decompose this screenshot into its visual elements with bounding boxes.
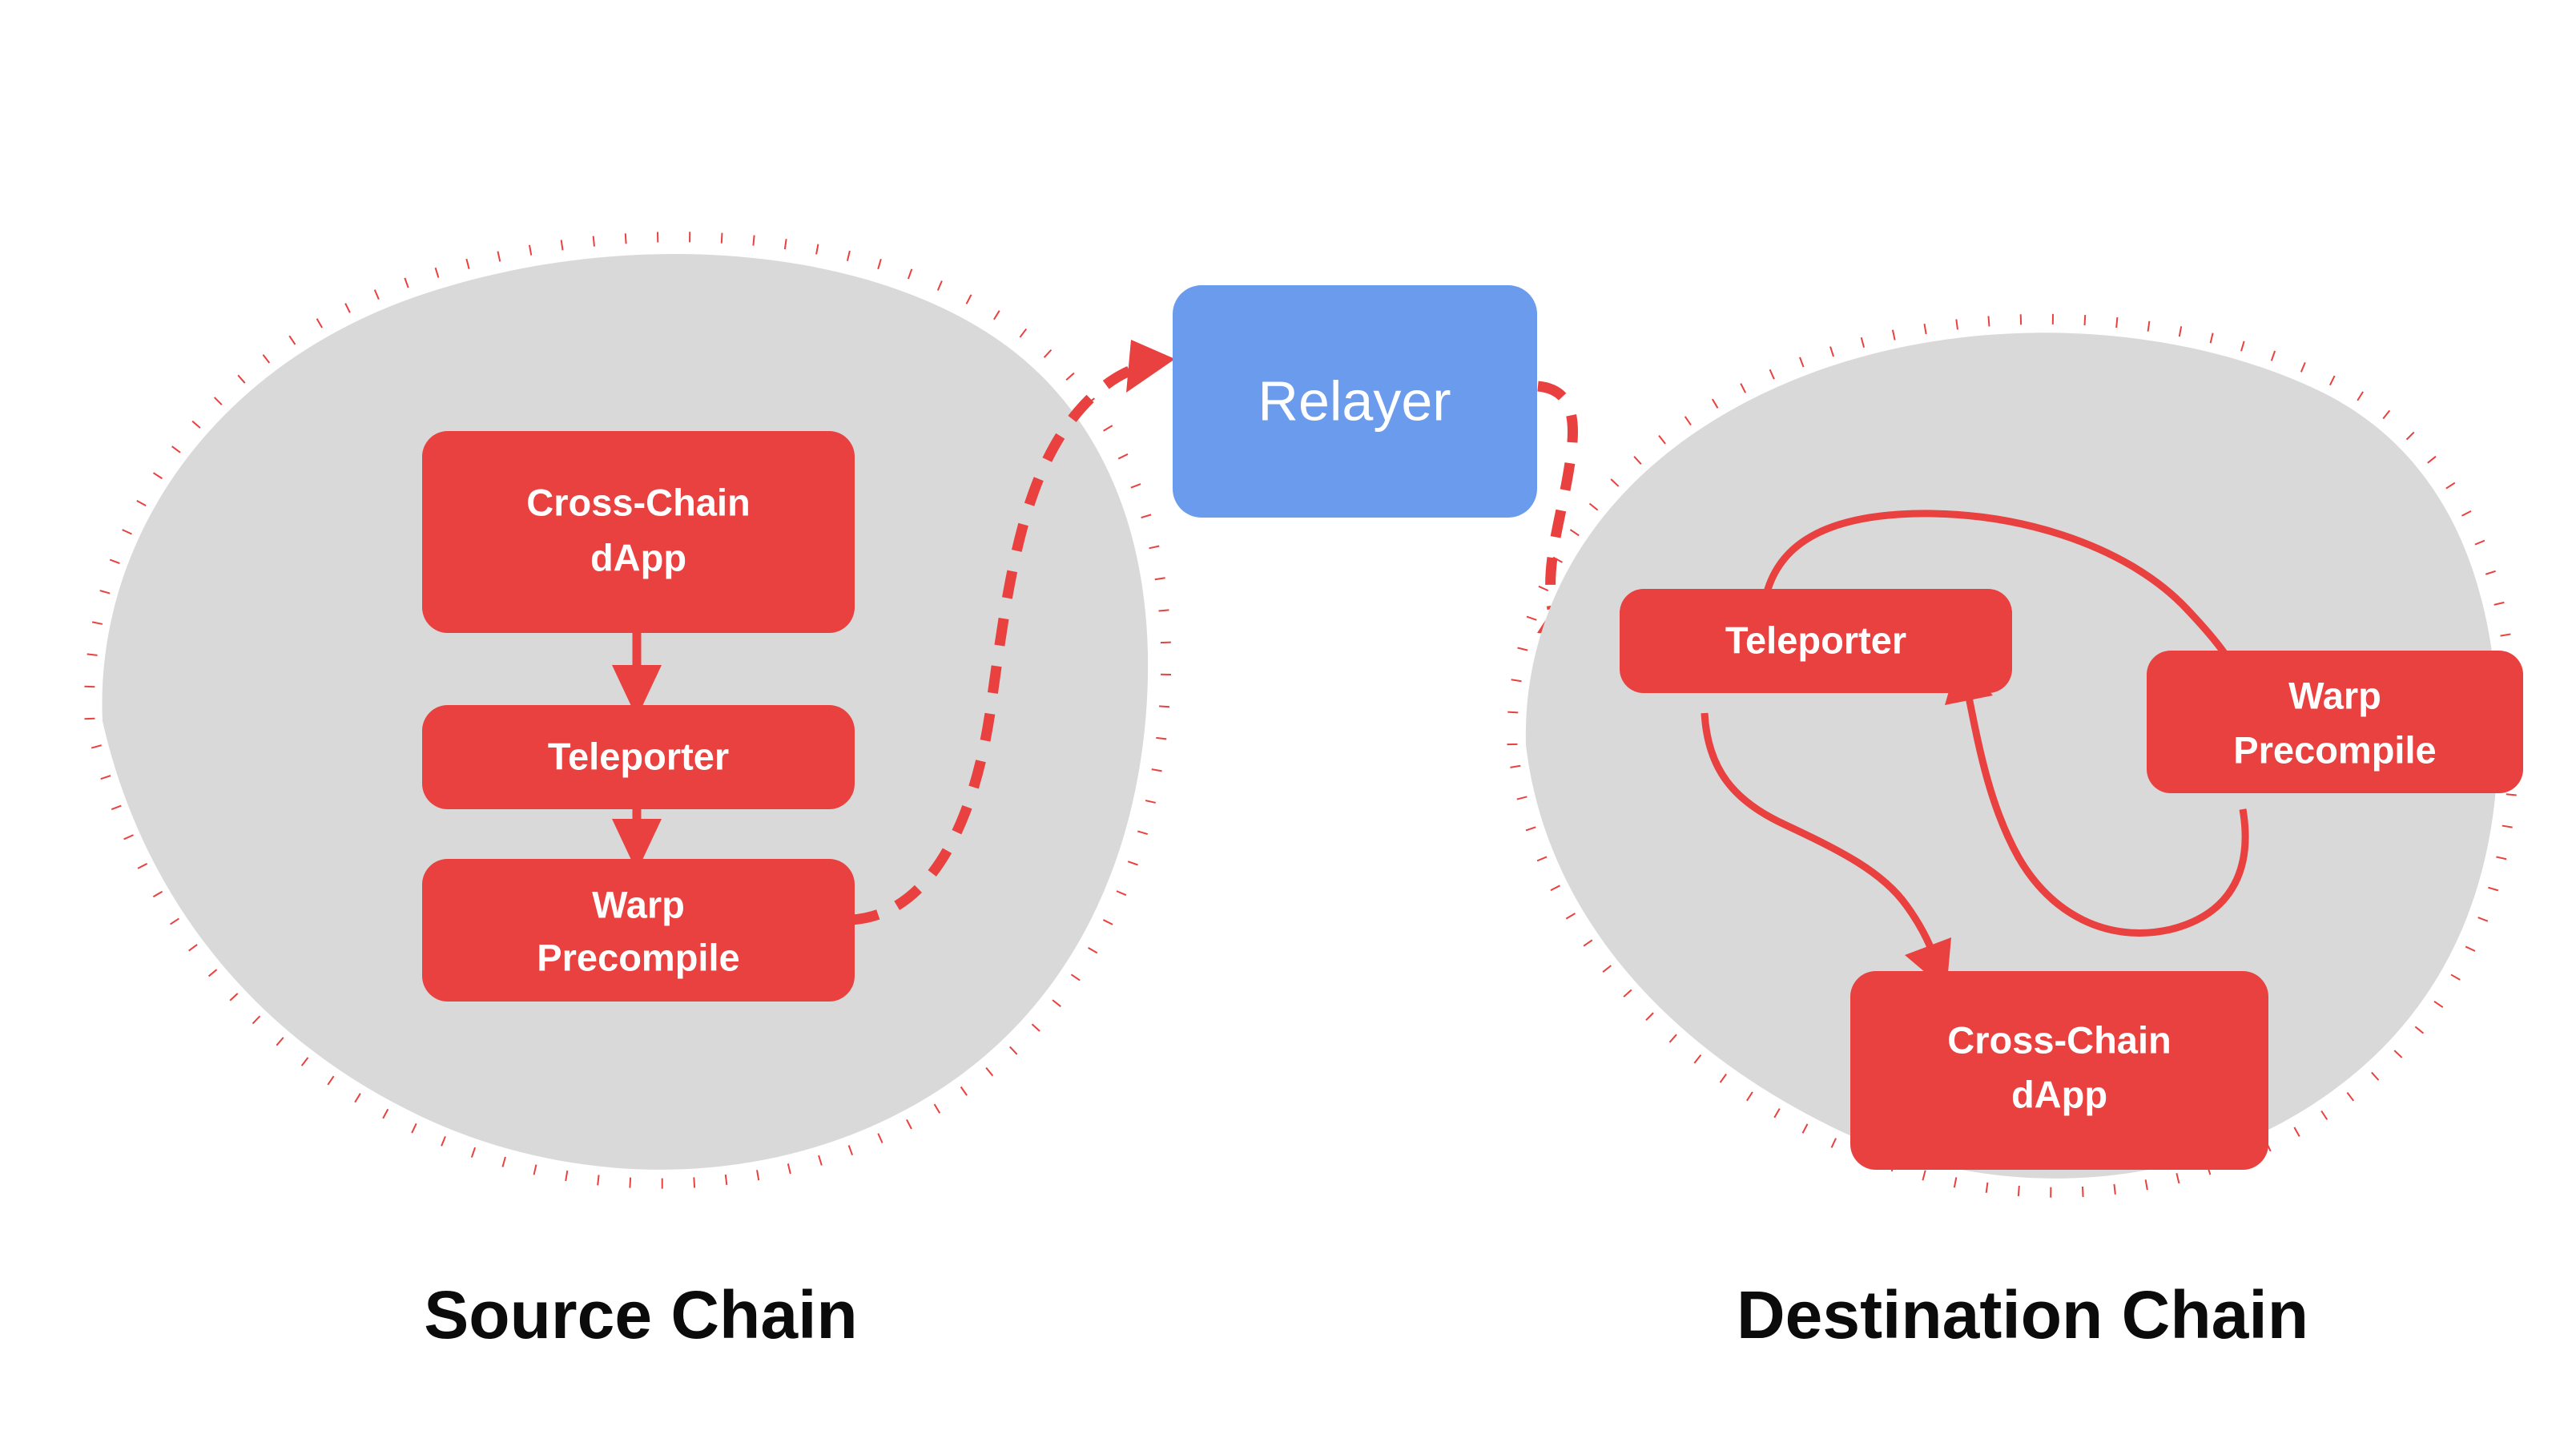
node-relayer-label: Relayer <box>1258 369 1451 432</box>
node-src-teleporter-label: Teleporter <box>548 735 729 777</box>
diagram-canvas: Cross-Chain dApp Teleporter Warp Precomp… <box>0 0 2576 1447</box>
node-dst-warp-precompile-label-line1: Warp <box>2288 674 2381 716</box>
node-src-warp-precompile-label-line1: Warp <box>592 883 685 925</box>
node-dst-cross-chain-dapp-label-line2: dApp <box>2011 1073 2107 1115</box>
edge-src-warp-to-relayer-arrowhead <box>1126 340 1175 393</box>
node-src-cross-chain-dapp[interactable]: Cross-Chain dApp <box>422 431 855 633</box>
node-dst-cross-chain-dapp-label-line1: Cross-Chain <box>1947 1018 2171 1061</box>
node-src-cross-chain-dapp-label-line1: Cross-Chain <box>526 481 750 523</box>
node-dst-warp-precompile-label-line2: Precompile <box>2233 728 2436 771</box>
node-src-warp-precompile-label-line2: Precompile <box>537 936 739 978</box>
node-relayer[interactable]: Relayer <box>1173 285 1537 518</box>
node-dst-teleporter[interactable]: Teleporter <box>1620 589 2012 693</box>
node-src-cross-chain-dapp-box[interactable] <box>422 431 855 633</box>
node-src-warp-precompile[interactable]: Warp Precompile <box>422 859 855 1002</box>
node-dst-cross-chain-dapp[interactable]: Cross-Chain dApp <box>1850 971 2268 1170</box>
node-src-warp-precompile-box[interactable] <box>422 859 855 1002</box>
node-src-cross-chain-dapp-label-line2: dApp <box>590 536 686 578</box>
node-dst-teleporter-label: Teleporter <box>1725 619 1906 661</box>
node-dst-cross-chain-dapp-box[interactable] <box>1850 971 2268 1170</box>
node-src-teleporter[interactable]: Teleporter <box>422 705 855 809</box>
destination-chain-caption: Destination Chain <box>1737 1277 2308 1352</box>
diagram-root: Cross-Chain dApp Teleporter Warp Precomp… <box>0 0 2576 1447</box>
node-dst-warp-precompile[interactable]: Warp Precompile <box>2147 651 2523 793</box>
source-chain-caption: Source Chain <box>424 1277 857 1352</box>
source-chain-nodes: Cross-Chain dApp Teleporter Warp Precomp… <box>422 431 855 1002</box>
node-dst-warp-precompile-box[interactable] <box>2147 651 2523 793</box>
